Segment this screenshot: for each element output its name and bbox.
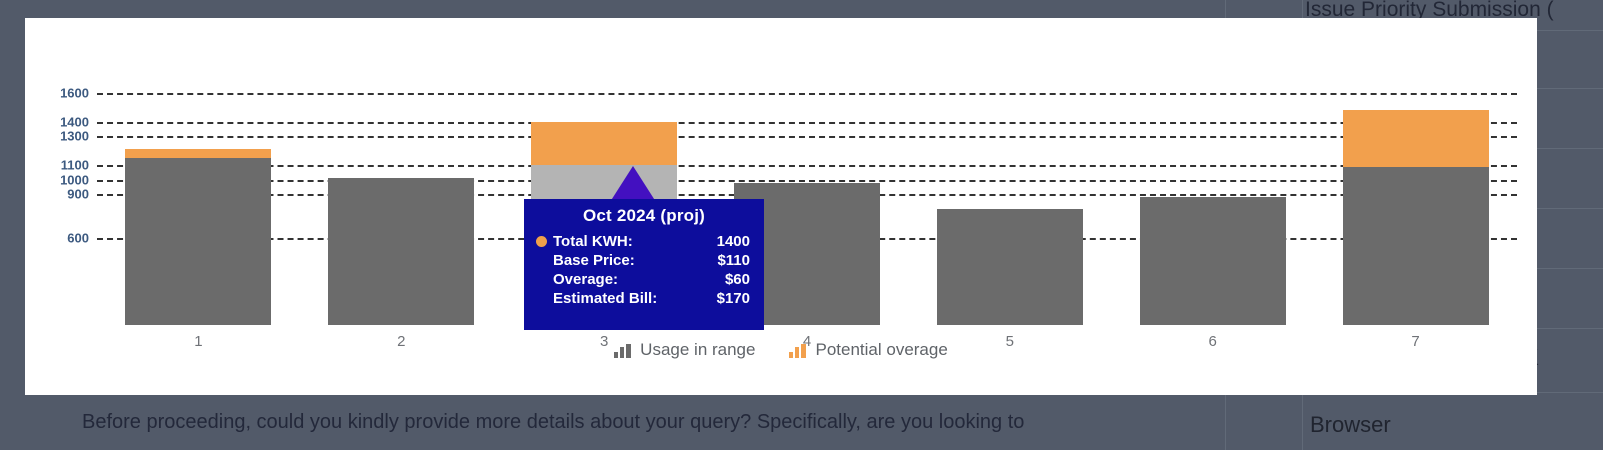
y-axis-tick-label: 600 [67,230,89,245]
tooltip-row: Base Price:$110 [524,251,764,270]
bar-column[interactable] [125,78,271,325]
tooltip-row: Total KWH:1400 [524,232,764,251]
tooltip-row-value: $60 [725,271,750,288]
tooltip-title: Oct 2024 (proj) [524,199,764,232]
chart-tooltip: Oct 2024 (proj) Total KWH:1400Base Price… [524,199,764,330]
chart-card: 16001400130011001000900600 1234567 Usage… [25,18,1537,395]
tooltip-rows: Total KWH:1400Base Price:$110Overage:$60… [524,232,764,308]
tooltip-marker-spacer [536,274,547,285]
legend-item-label: Potential overage [815,340,947,360]
bar-segment-usage-in-range[interactable] [1343,167,1489,325]
y-axis-tick-label: 1400 [60,114,89,129]
tooltip-series-marker-icon [536,236,547,247]
chart-legend: Usage in rangePotential overage [25,340,1537,360]
legend-item[interactable]: Potential overage [789,340,947,360]
tooltip-arrow-icon [610,166,656,202]
tooltip-row-key: Estimated Bill: [553,290,717,307]
chart-bars-group: 1234567 [97,78,1517,325]
tooltip-marker-spacer [536,255,547,266]
tooltip-row-key: Total KWH: [553,233,717,250]
y-axis-tick-label: 900 [67,187,89,202]
bar-column[interactable] [328,78,474,325]
bar-segment-usage-in-range[interactable] [1140,197,1286,325]
bar-segment-potential-overage[interactable] [125,149,271,158]
y-axis-tick-label: 1600 [60,85,89,100]
bar-segment-usage-in-range[interactable] [328,178,474,325]
bar-segment-usage-in-range[interactable] [125,158,271,325]
tooltip-row-value: 1400 [717,233,750,250]
y-axis-tick-label: 1300 [60,129,89,144]
background-assistant-message: Before proceeding, could you kindly prov… [82,411,1024,434]
background-browser-label: Browser [1310,412,1391,438]
legend-item[interactable]: Usage in range [614,340,755,360]
tooltip-marker-spacer [536,293,547,304]
bar-column[interactable] [937,78,1083,325]
bar-segment-usage-in-range[interactable] [937,209,1083,325]
legend-item-label: Usage in range [640,340,755,360]
bar-column[interactable] [1140,78,1286,325]
bar-chart-icon [614,343,631,358]
y-axis-tick-label: 1000 [60,172,89,187]
y-axis-labels: 16001400130011001000900600 [25,78,89,325]
tooltip-row: Overage:$60 [524,270,764,289]
bar-segment-potential-overage[interactable] [531,122,677,166]
bar-chart-icon [789,343,806,358]
tooltip-row-value: $170 [717,290,750,307]
tooltip-row-value: $110 [717,252,750,269]
tooltip-row: Estimated Bill:$170 [524,289,764,308]
tooltip-row-key: Overage: [553,271,725,288]
y-axis-tick-label: 1100 [61,158,89,173]
bar-segment-potential-overage[interactable] [1343,110,1489,167]
bar-column[interactable] [1343,78,1489,325]
tooltip-row-key: Base Price: [553,252,717,269]
